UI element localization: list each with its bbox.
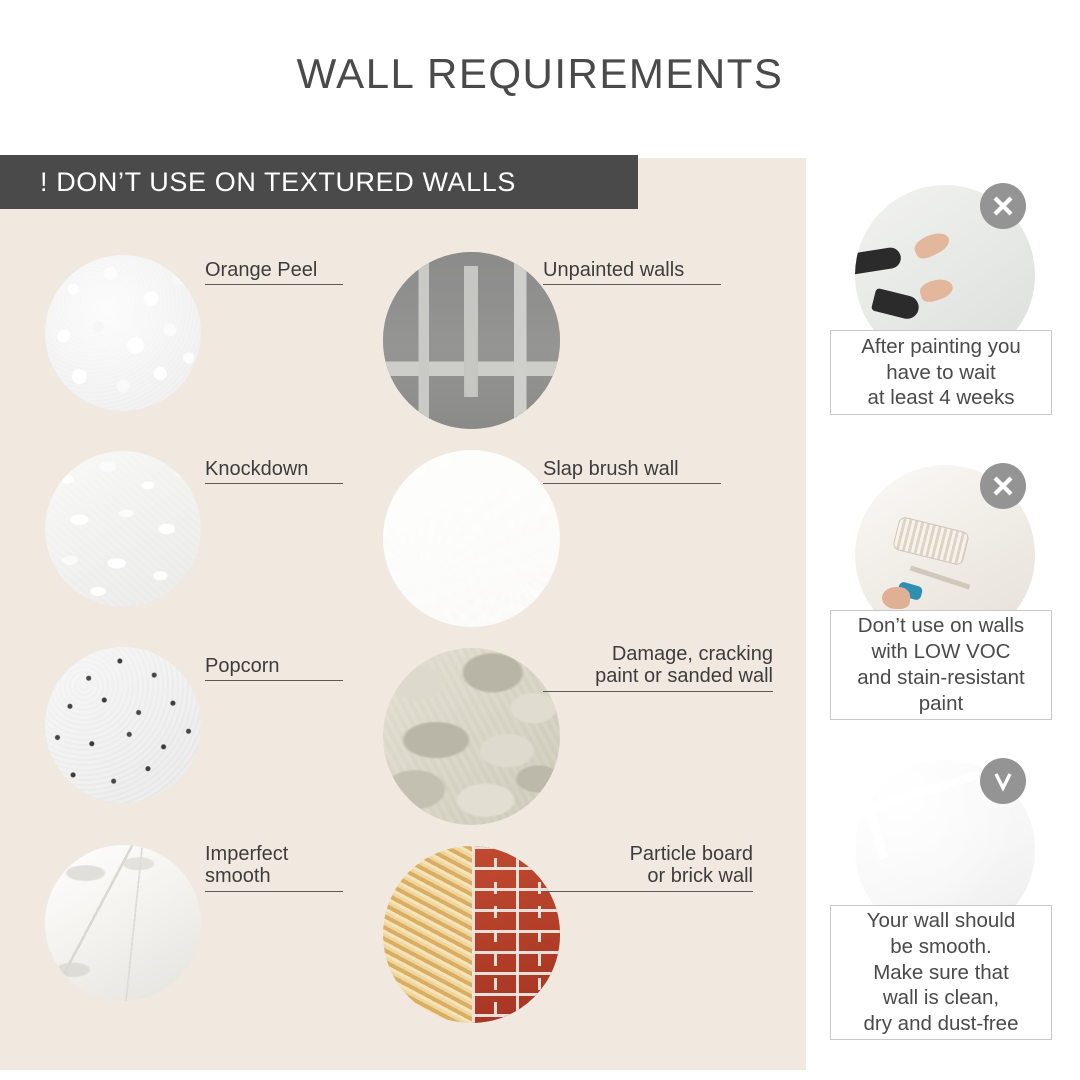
rule-card-wait-4-weeks: After painting you have to wait at least… (830, 185, 1080, 425)
rule-card-smooth-wall: Your wall should be smooth. Make sure th… (830, 760, 1080, 1060)
rule-text-low-voc: Don’t use on walls with LOW VOC and stai… (830, 610, 1052, 720)
texture-label-knockdown: Knockdown (205, 458, 343, 484)
texture-label-damage-cracking: Damage, cracking paint or sanded wall (543, 643, 773, 692)
popcorn-texture-swatch (45, 647, 201, 803)
damaged-plaster-texture-swatch (383, 648, 560, 825)
texture-label-popcorn: Popcorn (205, 655, 343, 681)
orange-peel-texture-swatch (45, 255, 201, 411)
texture-label-particle-board-brick: Particle board or brick wall (543, 843, 753, 892)
rule-text-wait-4-weeks: After painting you have to wait at least… (830, 330, 1052, 415)
cross-icon (980, 463, 1026, 509)
texture-label-unpainted-walls: Unpainted walls (543, 259, 721, 285)
cross-icon (980, 183, 1026, 229)
imperfect-smooth-texture-swatch (45, 845, 201, 1001)
check-icon (980, 758, 1026, 804)
slap-brush-texture-swatch (383, 450, 560, 627)
knockdown-texture-swatch (45, 451, 201, 607)
texture-grid: Orange Peel Unpainted walls Knockdown Sl… (0, 158, 806, 1070)
particle-board-brick-texture-swatch (383, 846, 560, 1023)
rule-text-smooth-wall: Your wall should be smooth. Make sure th… (830, 905, 1052, 1040)
rule-card-low-voc: Don’t use on walls with LOW VOC and stai… (830, 465, 1080, 735)
texture-label-orange-peel: Orange Peel (205, 259, 343, 285)
texture-label-imperfect-smooth: Imperfect smooth (205, 843, 343, 892)
page-title: WALL REQUIREMENTS (0, 50, 1080, 98)
unpainted-drywall-texture-swatch (383, 252, 560, 429)
texture-label-slap-brush-wall: Slap brush wall (543, 458, 721, 484)
